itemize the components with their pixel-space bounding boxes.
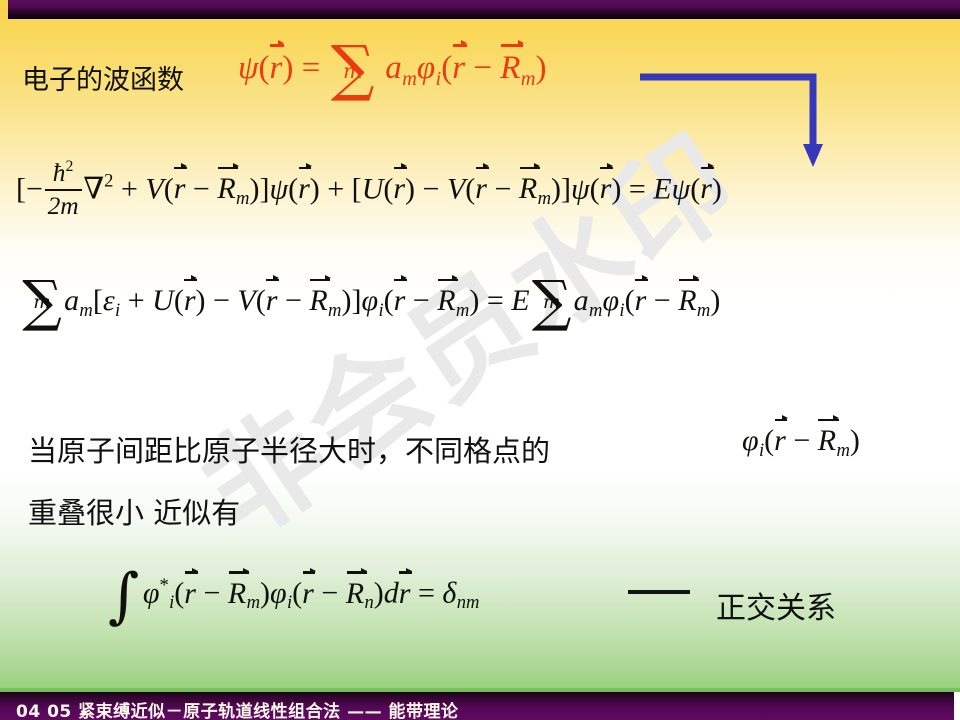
eq3-phi2: φ <box>602 284 619 317</box>
eq1-equals: = <box>302 50 329 86</box>
eq3-R-sub2: m <box>456 300 469 321</box>
eq1-minus: − <box>465 50 500 86</box>
eq2-nabla: ∇ <box>83 172 104 205</box>
eq2-psi2: ψ <box>571 172 590 205</box>
eq2-p10: ) <box>611 172 621 205</box>
eq3-plus: + <box>120 284 152 317</box>
eq3-r-vec3: r <box>394 284 406 318</box>
eq3-phi1: φ <box>361 284 378 317</box>
eq3-open-bracket: [ <box>93 284 103 317</box>
eq2-fraction: ħ22m <box>45 158 82 221</box>
eq3-p1: ( <box>174 284 184 317</box>
equation-phi-inline: φi(r − Rm) <box>742 424 860 462</box>
eq5-R-sub-m: m <box>247 592 260 613</box>
footer-title: 04 05 紧束缚近似－原子轨道线性组合法 —— 能带理论 <box>16 697 459 720</box>
eq3-coefficient-sub2: m <box>589 300 602 321</box>
eq3-epsilon: ε <box>103 284 115 317</box>
eq2-R-sub2: m <box>538 188 551 209</box>
eq5-conjugate-star: * <box>159 575 168 596</box>
eq3-p8: ) <box>710 284 720 317</box>
eq2-p5: ( <box>383 172 393 205</box>
eq2-plus2: + [ <box>320 172 362 205</box>
equation-expanded: ∑mam[εi + U(r) − V(r − Rm)]φi(r − Rm) = … <box>20 283 720 322</box>
eq5-R-sub-n: n <box>364 592 373 613</box>
equation-schrodinger: [−ħ22m∇2 + V(r − Rm)]ψ(r) + [U(r) − V(r … <box>16 160 722 223</box>
eq5-m2: − <box>314 577 346 610</box>
eq2-nabla-power: 2 <box>104 171 113 192</box>
eq2-m2: − <box>415 172 447 205</box>
eq2-equals: = <box>621 172 653 205</box>
eq4-R-vec: R <box>818 424 836 458</box>
eq4-p2: ) <box>850 424 860 457</box>
eq1-close-paren2: ) <box>536 50 547 86</box>
eq2-R-vec1: R <box>217 172 235 206</box>
eq1-coefficient-sub: m <box>402 68 417 90</box>
eq2-r-vec5: r <box>600 172 612 206</box>
orthogonality-note-label: 正交关系 <box>716 583 836 627</box>
eq4-minus: − <box>786 424 818 457</box>
eq5-R-vec2: R <box>346 577 364 611</box>
eq5-equals: = <box>410 577 442 610</box>
eq3-sum-index: m <box>33 297 50 310</box>
eq1-phi: φ <box>417 50 435 86</box>
eq3-r-vec4: r <box>635 284 647 318</box>
eq2-open-bracket: [ <box>16 172 26 205</box>
eq2-plus: + <box>121 172 145 205</box>
eq2-V2: V <box>447 172 465 205</box>
eq2-m1: − <box>185 172 217 205</box>
eq3-sum-index2: m <box>543 297 560 310</box>
eq4-phi: φ <box>742 424 759 457</box>
eq3-p2: ) <box>196 284 206 317</box>
eq2-E: E <box>653 172 671 205</box>
eq3-r-vec1: r <box>184 284 196 318</box>
eq3-R-sub1: m <box>328 300 341 321</box>
eq2-p1: ( <box>164 172 174 205</box>
eq1-sum-index: m <box>343 64 362 78</box>
eq3-summation-icon2: ∑m <box>532 283 572 322</box>
eq3-summation-icon: ∑m <box>22 283 62 322</box>
eq3-p5: ( <box>384 284 394 317</box>
eq5-p1: ( <box>174 577 184 610</box>
eq2-hbar-power: 2 <box>65 158 73 175</box>
eq5-m1: − <box>196 577 228 610</box>
eq1-summation-icon: ∑m <box>331 48 375 91</box>
eq1-psi: ψ <box>238 50 259 86</box>
eq2-R-vec2: R <box>519 172 537 206</box>
eq5-R-vec1: R <box>228 577 246 611</box>
eq2-minus: − <box>26 172 43 205</box>
eq3-m4: − <box>646 284 678 317</box>
body-text-line-1: 当原子间距比原子半径大时，不同格点的 <box>28 428 550 470</box>
eq3-R-vec3: R <box>678 284 696 318</box>
body-text-line-2: 重叠很小 近似有 <box>28 490 240 532</box>
eq1-coefficient: a <box>385 50 402 86</box>
page-title: 电子的波函数 <box>22 58 184 97</box>
eq3-p3: ( <box>256 284 266 317</box>
eq3-E: E <box>511 284 529 317</box>
eq2-p7: ( <box>465 172 475 205</box>
eq2-R-sub1: m <box>236 188 249 209</box>
eq2-psi1: ψ <box>269 172 288 205</box>
eq2-p11: ( <box>690 172 700 205</box>
eq5-p2: ) <box>260 577 270 610</box>
eq3-coefficient: a <box>64 284 79 317</box>
eq3-equals: = <box>479 284 511 317</box>
eq3-R-sub3: m <box>697 300 710 321</box>
eq3-V: V <box>237 284 255 317</box>
eq1-open-paren2: ( <box>441 50 452 86</box>
eq2-p3: ( <box>288 172 298 205</box>
eq3-m2: − <box>277 284 309 317</box>
eq2-p9: ( <box>590 172 600 205</box>
eq3-r-vec2: r <box>266 284 278 318</box>
eq2-p12: ) <box>712 172 722 205</box>
eq4-R-sub: m <box>836 440 849 461</box>
integral-icon: ∫ <box>108 561 139 631</box>
arrow-icon <box>640 68 840 173</box>
eq1-open-paren: ( <box>259 50 270 86</box>
eq4-r-vec: r <box>774 424 786 458</box>
eq5-phi2: φ <box>270 577 287 610</box>
eq2-V: V <box>145 172 163 205</box>
eq2-r-vec3: r <box>393 172 405 206</box>
eq5-phi1: φ <box>143 577 160 610</box>
eq3-m1: − <box>206 284 238 317</box>
eq2-r-vec6: r <box>700 172 712 206</box>
eq3-R-vec1: R <box>309 284 327 318</box>
eq3-p7: ( <box>625 284 635 317</box>
eq5-d: d <box>384 577 399 610</box>
eq2-r-vec1: r <box>174 172 186 206</box>
slide-canvas: 非会员水印 电子的波函数 ψ(r) = ∑m amφi(r − Rm) [−ħ2… <box>0 0 960 720</box>
eq3-U: U <box>152 284 174 317</box>
eq3-p6: ) <box>469 284 479 317</box>
eq2-p2: )] <box>249 172 269 205</box>
footer-right-cap <box>954 692 960 720</box>
eq2-p8: )] <box>551 172 571 205</box>
eq1-close-paren: ) <box>282 50 293 86</box>
eq1-R-sub: m <box>521 68 536 90</box>
eq1-r-vector2: r <box>452 50 465 87</box>
eq4-p1: ( <box>764 424 774 457</box>
note-dash <box>628 590 690 594</box>
eq5-delta: δ <box>442 577 456 610</box>
eq3-coefficient2: a <box>574 284 589 317</box>
eq5-p3: ( <box>292 577 302 610</box>
eq2-p6: ) <box>405 172 415 205</box>
eq2-numerator: ħ2 <box>45 158 82 189</box>
eq2-m3: − <box>487 172 519 205</box>
eq2-p4: ) <box>310 172 320 205</box>
eq5-r-vec3: r <box>399 577 411 611</box>
equation-orthogonality: ∫φ*i(r − Rm)φi(r − Rn)dr = δnm <box>108 575 479 614</box>
eq5-r-vec1: r <box>184 577 196 611</box>
eq3-R-vec2: R <box>437 284 455 318</box>
eq2-r-vec2: r <box>298 172 310 206</box>
eq3-p4: )] <box>341 284 361 317</box>
eq3-coefficient-sub: m <box>79 300 92 321</box>
eq1-R-vector: R <box>500 50 520 87</box>
eq2-denominator: 2m <box>45 189 82 221</box>
eq1-r-vector: r <box>270 50 283 87</box>
equation-wavefunction: ψ(r) = ∑m amφi(r − Rm) <box>238 48 547 91</box>
eq5-delta-sub: nm <box>457 592 480 613</box>
eq2-U: U <box>362 172 384 205</box>
eq2-r-vec4: r <box>475 172 487 206</box>
callout-arrow <box>640 68 840 173</box>
eq2-mass: m <box>60 192 78 220</box>
eq5-p4: ) <box>374 577 384 610</box>
top-decoration-bar <box>8 0 960 19</box>
eq3-m3: − <box>405 284 437 317</box>
eq5-r-vec2: r <box>302 577 314 611</box>
eq2-psi3: ψ <box>672 172 691 205</box>
